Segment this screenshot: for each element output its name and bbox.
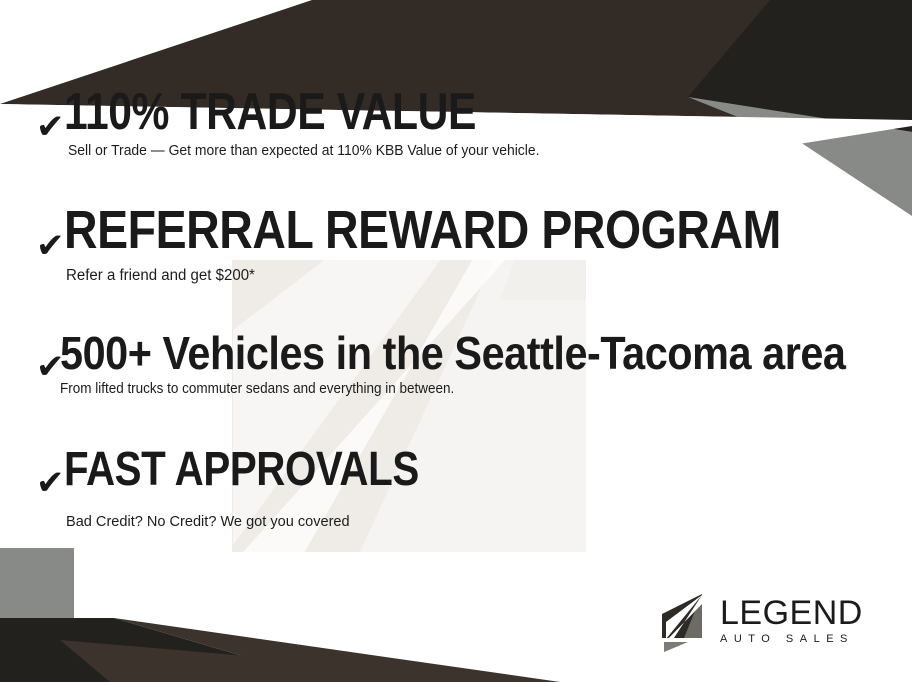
feature-heading: 500+ Vehicles in the Seattle-Tacoma area bbox=[60, 330, 846, 376]
check-icon: ✔ bbox=[36, 110, 65, 144]
feature-subtext: Sell or Trade — Get more than expected a… bbox=[68, 144, 547, 160]
bottom-brown-band bbox=[114, 618, 560, 682]
top-gray-triangle bbox=[688, 97, 912, 216]
feature-item-referral-reward: ✔ REFERRAL REWARD PROGRAM Refer a friend… bbox=[36, 203, 898, 284]
feature-subtext: From lifted trucks to commuter sedans an… bbox=[60, 382, 872, 398]
check-icon: ✔ bbox=[36, 466, 65, 500]
feature-item-inventory: ✔ 500+ Vehicles in the Seattle-Tacoma ar… bbox=[36, 330, 912, 398]
legend-angular-mark-icon bbox=[658, 592, 710, 654]
bottom-gray-triangle bbox=[0, 548, 74, 622]
promo-poster: ✔ 110% TRADE VALUE Sell or Trade — Get m… bbox=[0, 0, 912, 682]
feature-item-trade-value: ✔ 110% TRADE VALUE Sell or Trade — Get m… bbox=[36, 86, 567, 160]
feature-heading: 110% TRADE VALUE bbox=[64, 86, 476, 138]
feature-heading: FAST APPROVALS bbox=[64, 446, 419, 494]
check-icon: ✔ bbox=[36, 229, 65, 263]
feature-subtext: Refer a friend and get $200* bbox=[66, 267, 873, 284]
feature-heading: REFERRAL REWARD PROGRAM bbox=[64, 203, 781, 257]
bottom-black-wedge bbox=[0, 618, 330, 682]
bottom-white-notch bbox=[74, 548, 200, 640]
logo-wordmark: LEGEND bbox=[720, 596, 863, 630]
top-black-wedge bbox=[688, 0, 912, 132]
legend-auto-sales-logo: LEGEND AUTO SALES bbox=[658, 592, 874, 656]
feature-subtext: Bad Credit? No Credit? We got you covere… bbox=[66, 514, 474, 531]
bottom-gray-slope bbox=[0, 548, 74, 622]
bottom-brown-band-2 bbox=[60, 640, 548, 682]
feature-item-fast-approvals: ✔ FAST APPROVALS Bad Credit? No Credit? … bbox=[36, 446, 486, 531]
logo-text-block: LEGEND AUTO SALES bbox=[720, 592, 863, 645]
logo-tagline: AUTO SALES bbox=[720, 634, 863, 645]
